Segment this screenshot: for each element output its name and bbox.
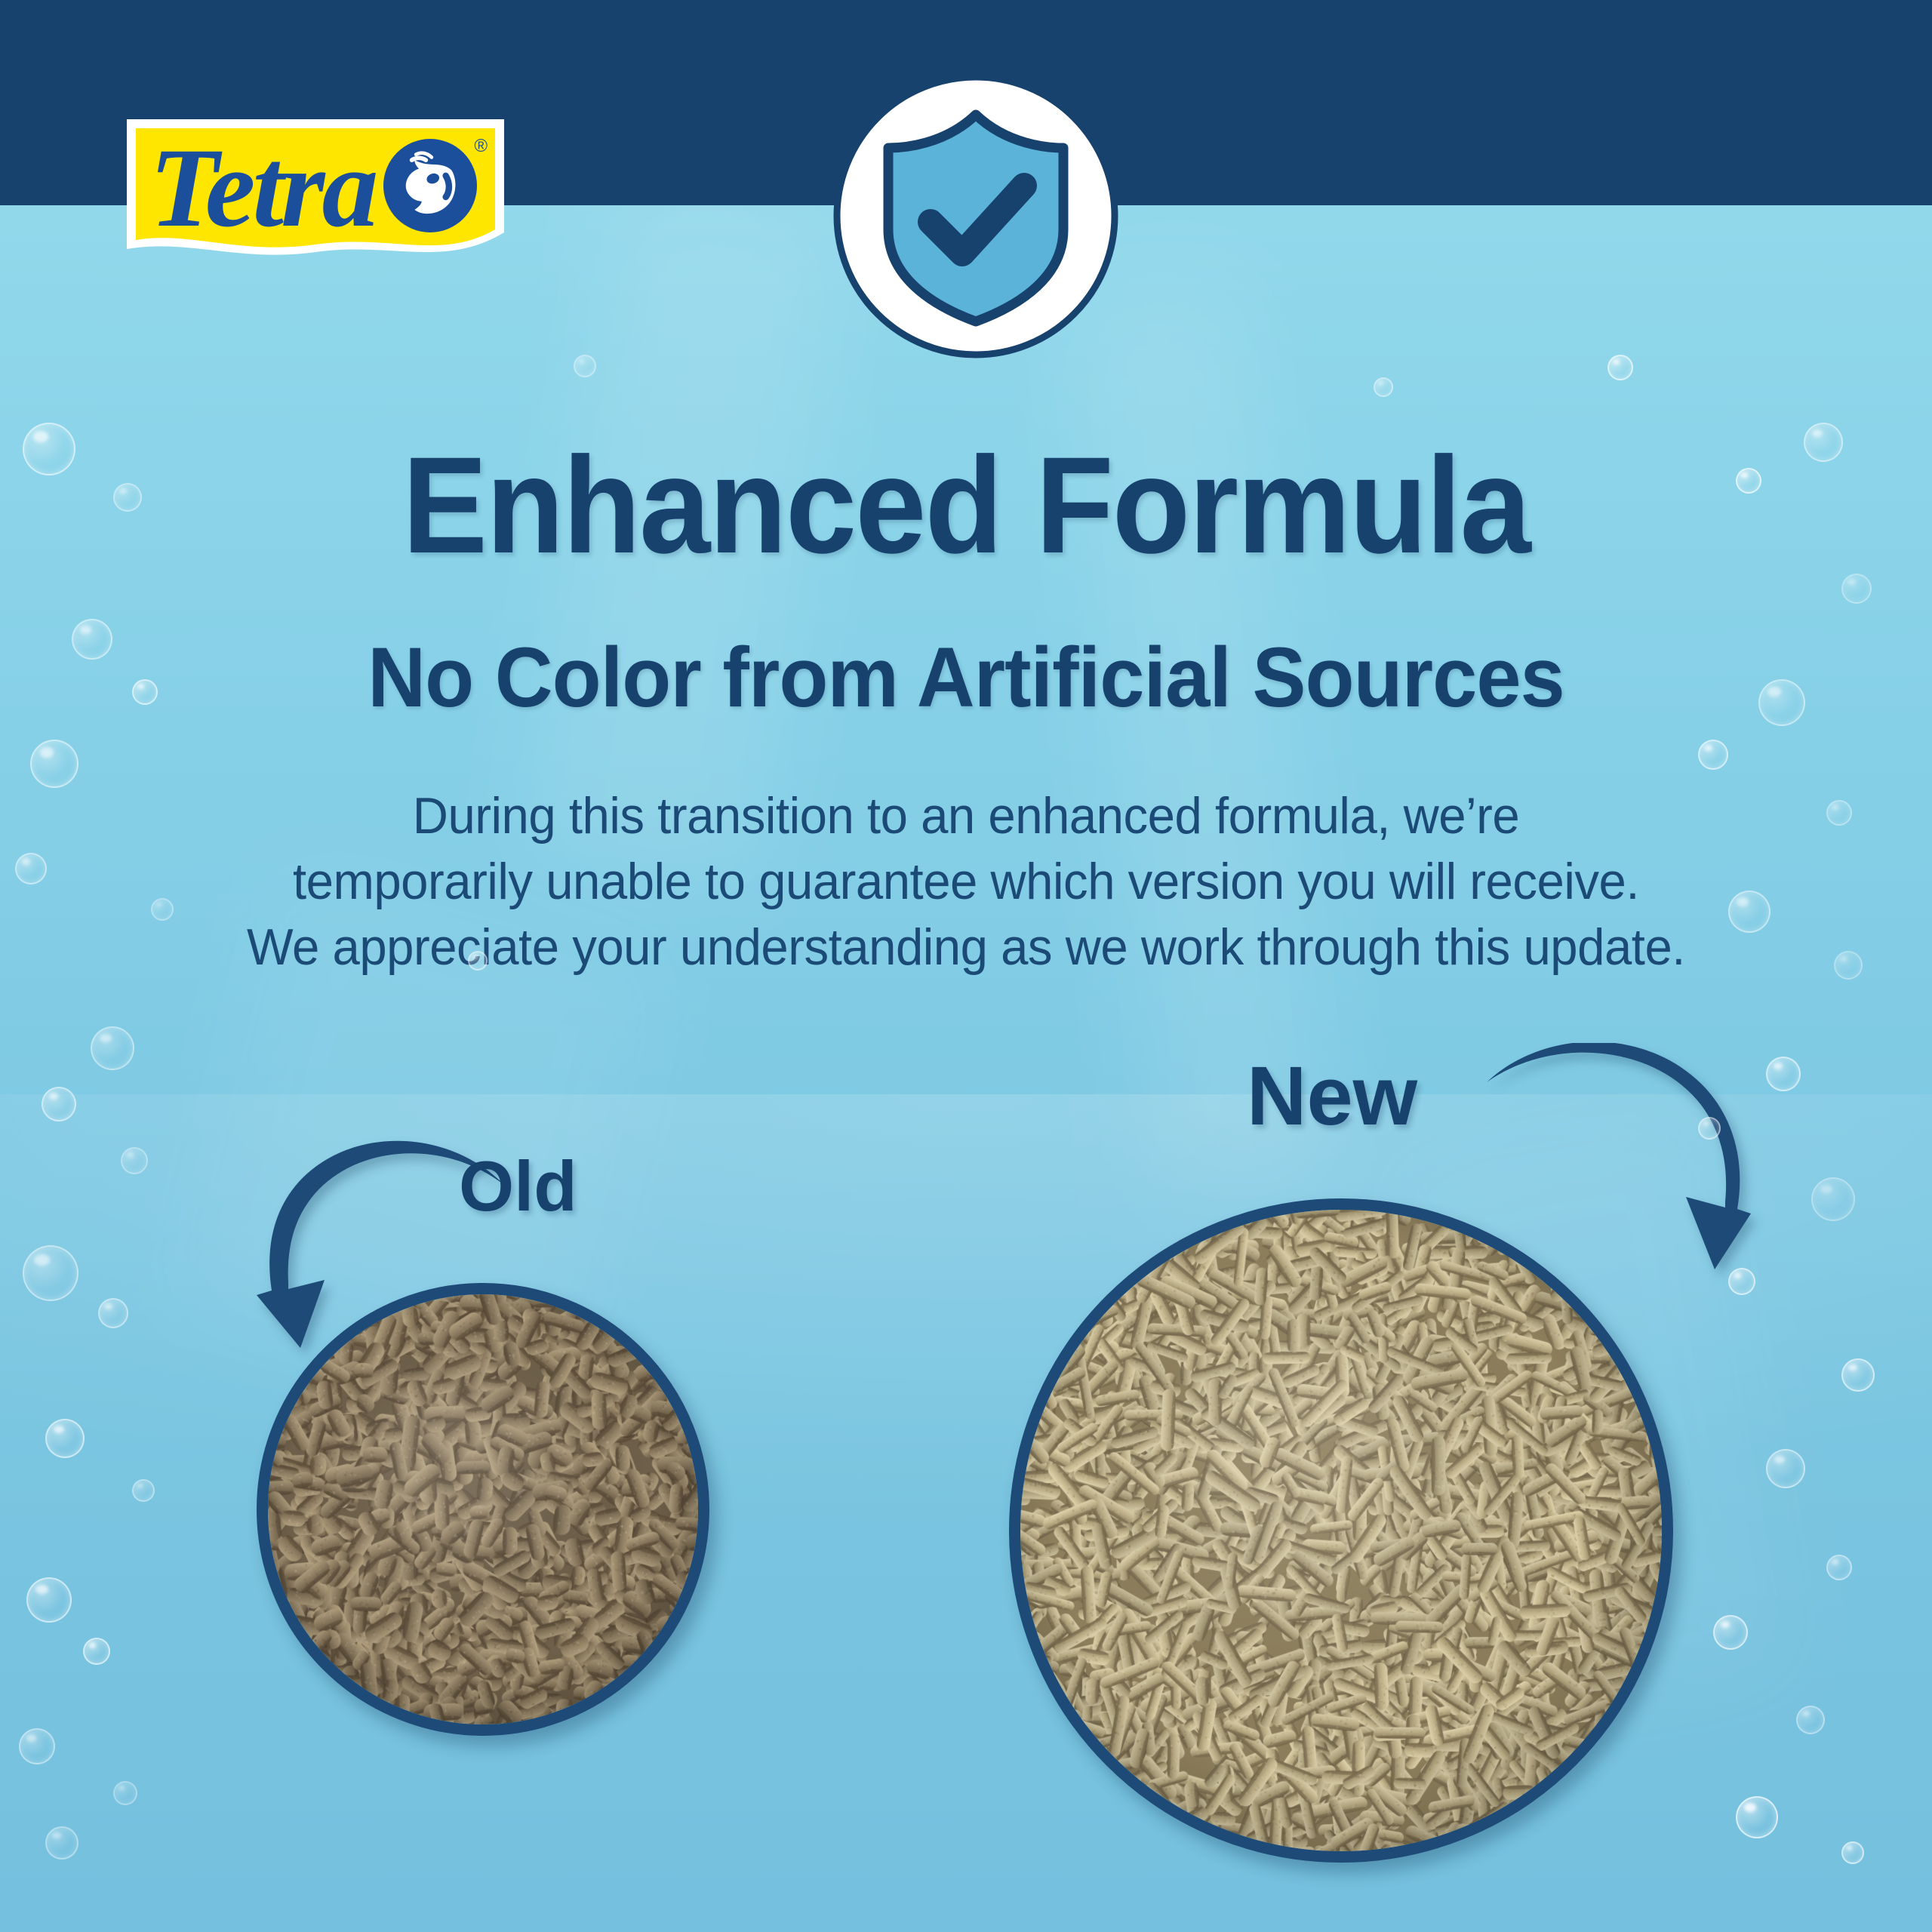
label-new: New <box>1247 1055 1417 1138</box>
poster-canvas: Tetra ® Enhanced Formula No Color from A… <box>0 0 1932 1932</box>
label-old: Old <box>459 1151 577 1222</box>
bubble <box>574 355 596 377</box>
page-title: Enhanced Formula <box>68 436 1865 574</box>
body-line-1: During this transition to an enhanced fo… <box>38 783 1894 849</box>
bubble <box>30 740 78 788</box>
tetra-fish-icon <box>383 139 477 232</box>
bubble <box>1766 1057 1801 1091</box>
body-copy: During this transition to an enhanced fo… <box>38 783 1894 980</box>
bubble <box>1841 574 1872 604</box>
shield-check-icon <box>832 72 1119 359</box>
body-line-3: We appreciate your understanding as we w… <box>38 915 1894 980</box>
bubble <box>1698 740 1728 770</box>
body-line-2: temporarily unable to guarantee which ve… <box>38 849 1894 915</box>
bubble <box>91 1026 134 1070</box>
tetra-logo: Tetra ® <box>127 119 504 270</box>
tetra-wordmark: Tetra <box>149 131 375 245</box>
new-formula-image <box>1009 1198 1673 1863</box>
bubble <box>1607 355 1633 380</box>
old-formula-image <box>257 1283 709 1736</box>
bubble <box>1374 377 1393 397</box>
page-subtitle: No Color from Artificial Sources <box>48 635 1884 720</box>
registered-mark: ® <box>474 136 488 157</box>
